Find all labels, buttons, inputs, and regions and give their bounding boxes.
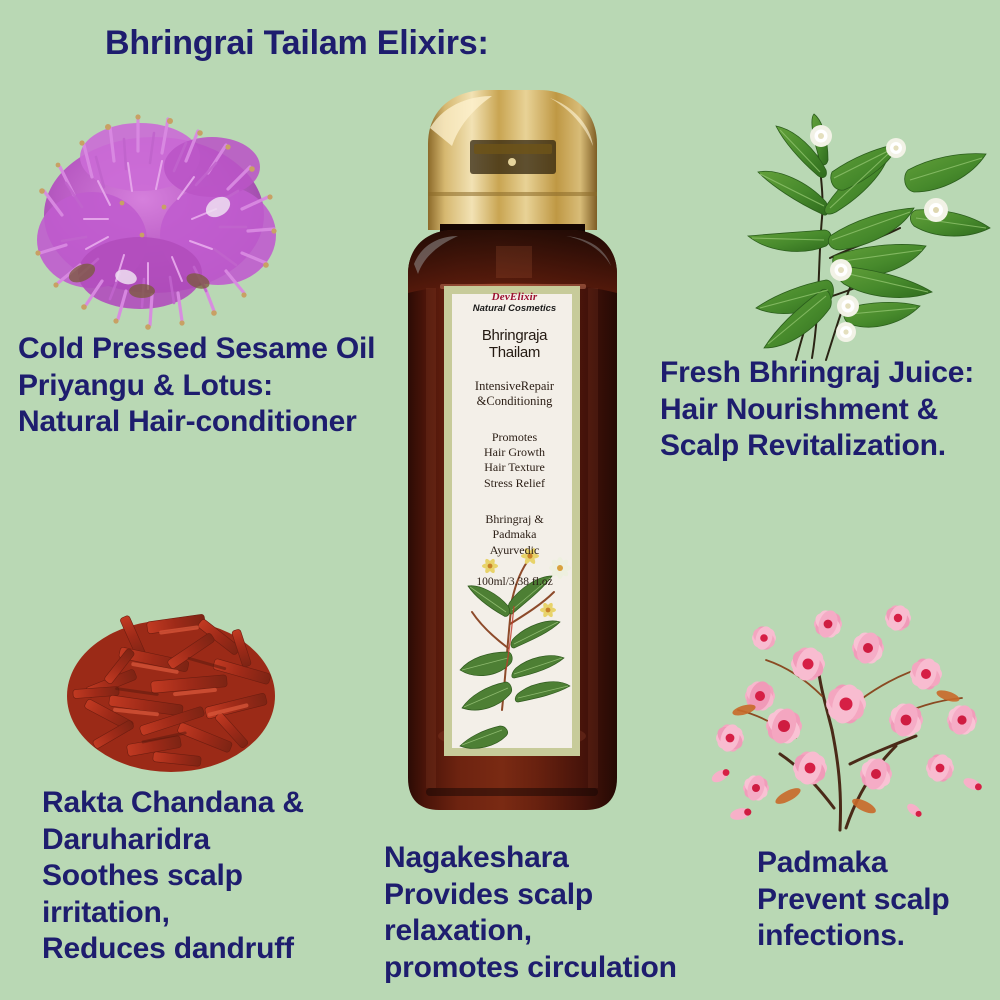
bottle-cap: [428, 90, 597, 230]
page-title: Bhringrai Tailam Elixirs:: [105, 24, 489, 63]
caption-nagakeshara: Nagakeshara Provides scalp relaxation, p…: [384, 840, 677, 986]
padmaka-blossom-image: [700, 578, 995, 833]
bhringraj-plant-image: [700, 110, 995, 362]
product-bottle: [400, 88, 625, 816]
caption-rakta-chandana: Rakta Chandana & Daruharidra Soothes sca…: [42, 785, 304, 968]
infographic-canvas: Bhringrai Tailam Elixirs:: [0, 0, 1000, 1000]
caption-fresh-bhringraj-juice: Fresh Bhringraj Juice: Hair Nourishment …: [660, 355, 974, 465]
priyangu-flower-image: [22, 95, 287, 335]
caption-padmaka: Padmaka Prevent scalp infections.: [757, 845, 950, 955]
product-label: [444, 286, 580, 756]
rakta-chandana-image: [55, 592, 287, 784]
caption-cold-pressed-sesame-oil: Cold Pressed Sesame Oil Priyangu & Lotus…: [18, 331, 375, 441]
